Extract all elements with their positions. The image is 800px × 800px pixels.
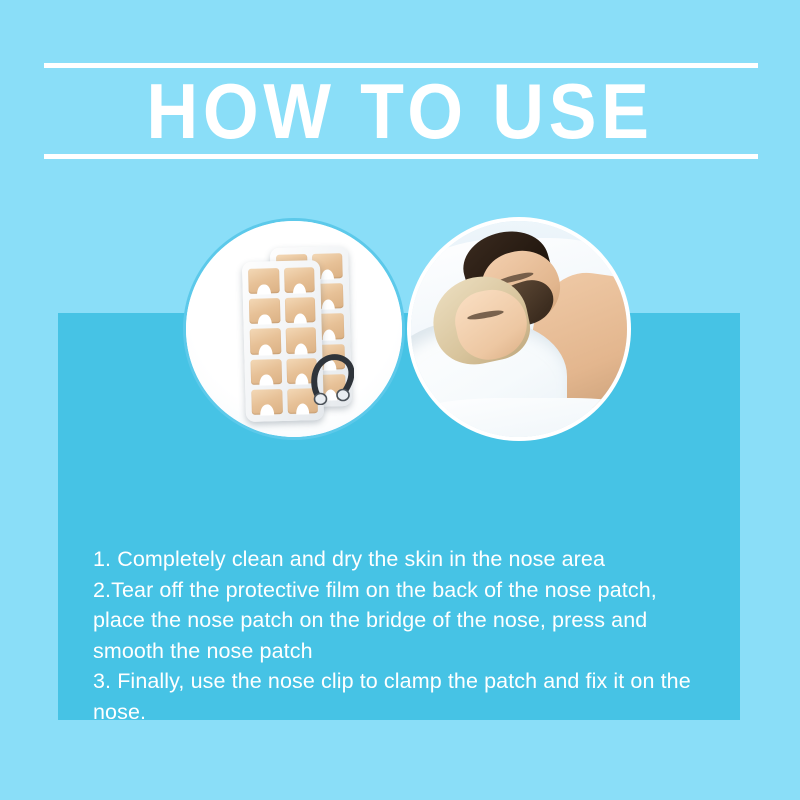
nose-patch xyxy=(284,267,315,293)
title-rule-bottom xyxy=(44,154,758,159)
instructions-text: 1. Completely clean and dry the skin in … xyxy=(93,544,693,727)
lifestyle-image-circle xyxy=(411,221,627,437)
nose-patch xyxy=(285,328,316,354)
nose-patch xyxy=(284,297,315,323)
product-photo xyxy=(186,221,402,437)
page-title: HOW TO USE xyxy=(32,72,768,150)
nose-patch xyxy=(250,328,281,354)
instructions-block: 1. Completely clean and dry the skin in … xyxy=(93,483,693,788)
nose-patch xyxy=(251,389,282,415)
sleeping-couple-photo xyxy=(411,221,627,437)
bed-blanket xyxy=(411,398,627,437)
nose-clip-icon xyxy=(310,353,354,405)
how-to-use-poster: HOW TO USE xyxy=(0,0,800,800)
product-image-circle xyxy=(186,221,402,437)
nose-patch xyxy=(249,298,280,324)
nose-patch xyxy=(250,359,281,385)
nose-patch xyxy=(248,268,279,294)
